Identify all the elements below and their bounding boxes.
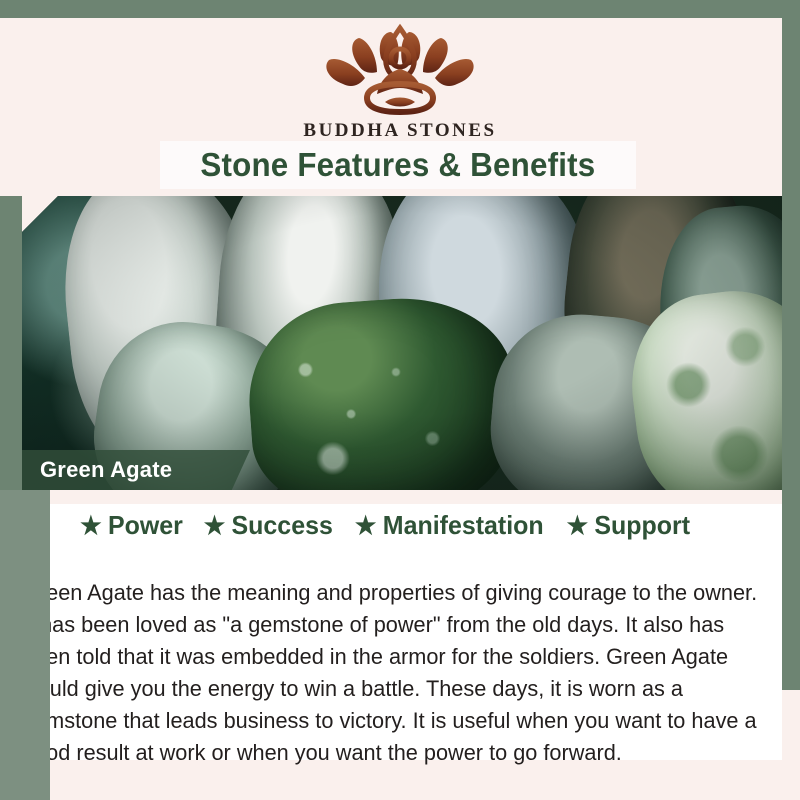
star-icon: ★	[355, 515, 376, 537]
content-panel: ★ Power ★ Success ★ Manifestation ★ Supp…	[50, 504, 800, 760]
keyword-label: Power	[108, 510, 183, 541]
frame-left-lower-border	[0, 490, 50, 800]
frame-top-border	[0, 0, 800, 18]
keyword-label: Manifestation	[383, 510, 544, 541]
title-banner: Stone Features & Benefits	[160, 141, 636, 189]
keyword-list: ★ Power ★ Success ★ Manifestation ★ Supp…	[10, 510, 760, 541]
star-icon: ★	[203, 515, 224, 537]
keyword-item-manifestation: ★ Manifestation	[355, 510, 544, 541]
frame-right-fade	[782, 690, 800, 800]
keyword-item-success: ★ Success	[203, 510, 332, 541]
description-text: Green Agate has the meaning and properti…	[22, 577, 757, 769]
stone-name-label: Green Agate	[40, 457, 172, 483]
cream-divider	[22, 490, 800, 504]
page-title: Stone Features & Benefits	[201, 146, 596, 184]
frame-right-border	[782, 0, 800, 800]
lotus-meditation-logo-icon	[315, 22, 485, 118]
stone-photo	[22, 196, 800, 490]
keyword-label: Support	[594, 510, 690, 541]
infographic-page: BUDDHA STONES Stone Features & Benefits …	[0, 0, 800, 800]
brand-name: BUDDHA STONES	[0, 120, 800, 142]
keyword-item-power: ★ Power	[80, 510, 183, 541]
keyword-label: Success	[231, 510, 332, 541]
star-icon: ★	[566, 515, 587, 537]
brand-logo: BUDDHA STONES	[0, 22, 800, 142]
stone-name-banner: Green Agate	[22, 450, 250, 490]
keyword-item-support: ★ Support	[566, 510, 690, 541]
star-icon: ★	[80, 515, 101, 537]
